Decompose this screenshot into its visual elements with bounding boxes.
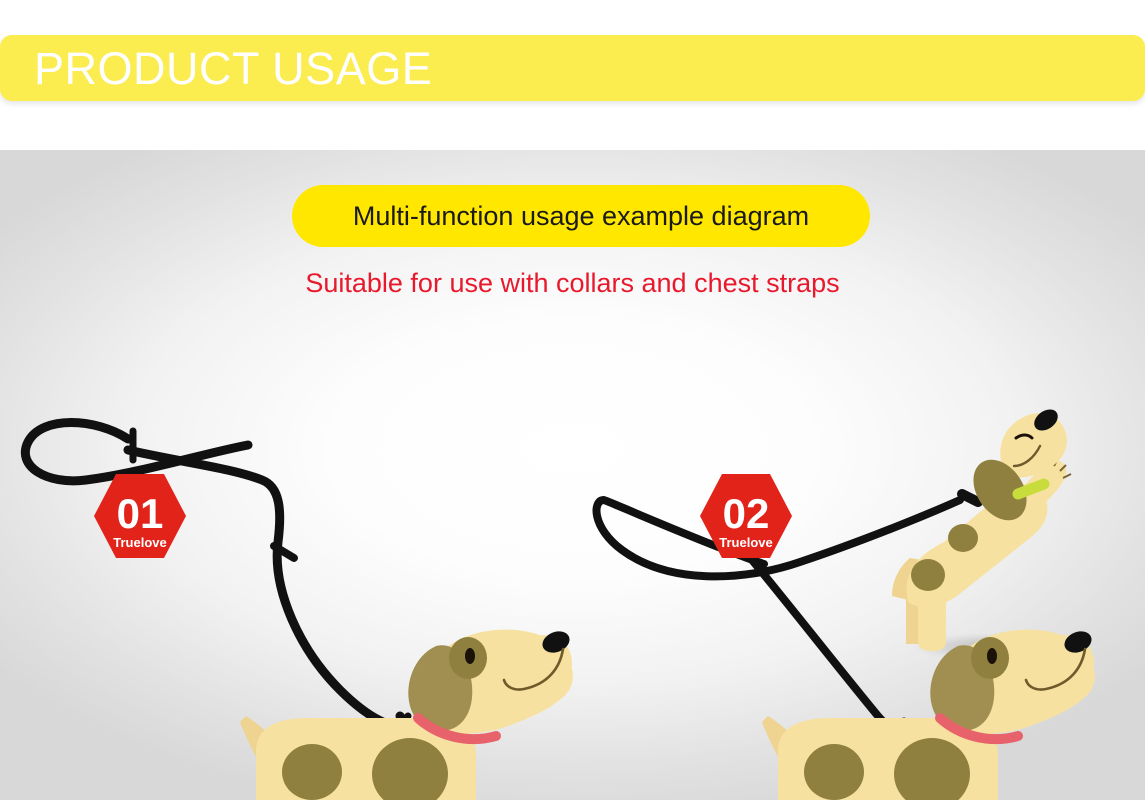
dog-foreleg-raised xyxy=(1004,461,1066,528)
caption-text: Multi-function usage example diagram xyxy=(353,201,809,232)
dog-eye-patch xyxy=(449,637,487,679)
subtitle-text: Suitable for use with collars and chest … xyxy=(0,268,1145,299)
dog-spot xyxy=(282,744,342,800)
badge-number: 02 xyxy=(723,490,770,537)
product-usage-header-band: PRODUCT USAGE xyxy=(0,35,1145,101)
dog-eye-closed xyxy=(1016,435,1032,438)
dog-body xyxy=(256,718,476,800)
dog-ear xyxy=(962,450,1037,530)
dog-mouth xyxy=(1014,446,1040,466)
dog-spot xyxy=(894,738,970,800)
dog-leg-back-near xyxy=(918,594,946,651)
dog-head xyxy=(1000,413,1067,477)
badge-brand: Truelove xyxy=(113,535,166,550)
dog-body xyxy=(778,718,998,800)
dog-shadow xyxy=(912,633,1068,661)
dog-spot xyxy=(804,744,864,800)
dog-muzzle xyxy=(520,635,572,695)
scene-02-group xyxy=(597,405,1095,800)
dog-collar xyxy=(418,718,496,739)
dog-tail xyxy=(240,716,288,778)
dog-nose xyxy=(539,627,572,656)
dog-tail xyxy=(892,558,922,602)
dog-ear xyxy=(408,645,472,731)
dog-eye-patch xyxy=(971,637,1009,679)
dog-nose xyxy=(1030,405,1062,435)
dog-mouth xyxy=(1026,649,1085,690)
dog-standing-01 xyxy=(240,627,573,800)
dog-tail xyxy=(762,716,810,778)
dog-chest-strap xyxy=(1018,484,1044,494)
badge-brand: Truelove xyxy=(719,535,772,550)
dog-spot xyxy=(372,738,448,800)
dog-head xyxy=(942,630,1095,734)
dog-muzzle xyxy=(1042,635,1094,695)
dog-ear xyxy=(930,645,994,731)
dog-nose xyxy=(1061,627,1094,656)
dog-eye xyxy=(987,648,997,664)
step-badge-01: 01 Truelove xyxy=(92,468,188,564)
leash-01 xyxy=(25,423,412,735)
dog-eye xyxy=(465,648,475,664)
step-badge-02: 02 Truelove xyxy=(698,468,794,564)
dog-spot xyxy=(948,524,978,552)
dog-body xyxy=(907,484,1048,607)
page-title: PRODUCT USAGE xyxy=(34,46,432,91)
dog-leg-back-far xyxy=(906,594,932,644)
dog-collar xyxy=(940,718,1018,739)
caption-pill: Multi-function usage example diagram xyxy=(292,185,870,247)
dog-spot xyxy=(911,559,945,591)
dog-standing-02 xyxy=(762,627,1095,800)
dog-paw-lines xyxy=(1054,458,1071,478)
dog-mouth xyxy=(504,649,563,690)
dog-head xyxy=(420,630,573,734)
dog-jumping-02 xyxy=(892,405,1071,651)
badge-number: 01 xyxy=(117,490,164,537)
